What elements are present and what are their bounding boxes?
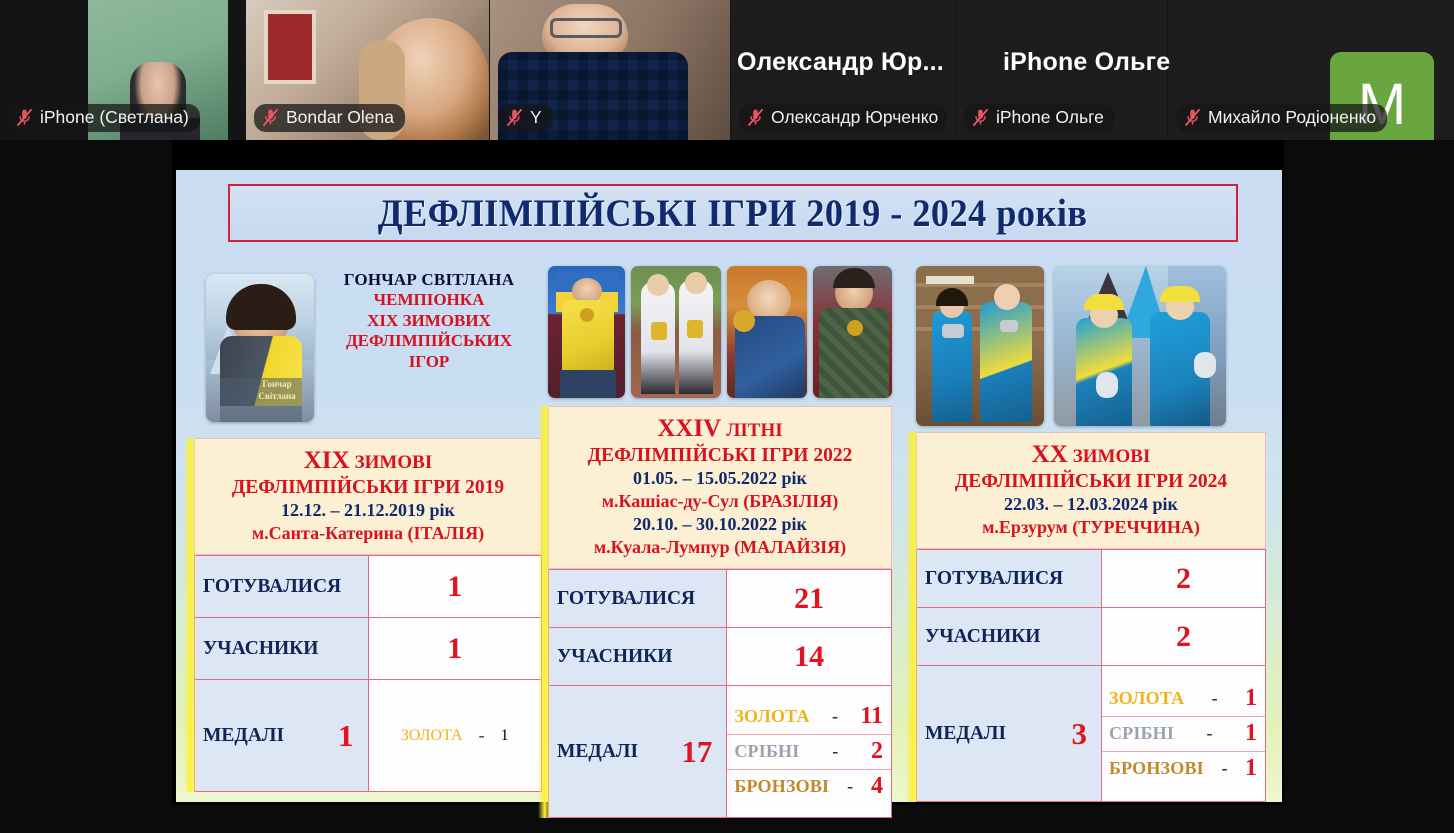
games-roman-numeral: XXIV xyxy=(657,415,721,442)
medals-label: МЕДАЛІ xyxy=(203,725,284,747)
medals-label: МЕДАЛІ xyxy=(925,723,1006,745)
medals-total: 1 xyxy=(338,718,360,754)
medals-breakdown-cell: ЗОЛОТА - 1 СРІБНІ - 1 БР xyxy=(1101,666,1265,802)
games-roman-numeral: XX xyxy=(1032,441,1068,468)
row-value: 1 xyxy=(368,556,542,618)
table-row-medals: МЕДАЛІ 17 ЗОЛОТА - 11 xyxy=(549,686,892,818)
champion-caption: ГОНЧАР СВІТЛАНА ЧЕМПІОНКА XIX ЗИМОВИХ ДЕ… xyxy=(322,270,536,373)
column-xx-winter-2024: XX ЗИМОВІ ДЕФЛІМПІЙСЬКИ ІГРИ 2024 22.03.… xyxy=(916,266,1266,802)
athlete-photo-3 xyxy=(727,266,808,398)
stats-table-xix: ГОТУВАЛИСЯ 1 УЧАСНИКИ 1 МЕДАЛІ 1 xyxy=(194,555,542,792)
page-title: ДЕФЛІМПІЙСЬКІ ІГРИ 2019 - 2024 років xyxy=(378,191,1088,236)
separator-dash: - xyxy=(830,741,840,762)
games-place-1: м.Кашіас-ду-Сул (БРАЗІЛІЯ) xyxy=(553,490,887,513)
champion-line-2: XIX ЗИМОВИХ xyxy=(322,311,536,332)
athlete-photo-2 xyxy=(631,266,721,398)
stats-card-xx: XX ЗИМОВІ ДЕФЛІМПІЙСЬКИ ІГРИ 2024 22.03.… xyxy=(916,432,1266,802)
separator-dash: - xyxy=(830,706,840,727)
medal-breakdown-row-gold: ЗОЛОТА - 1 xyxy=(1102,682,1265,717)
row-value: 2 xyxy=(1101,550,1265,608)
medal-count: 1 xyxy=(501,727,509,745)
champion-block: Гончар Світлана ГОНЧАР СВІТЛАНА ЧЕМПІОНК… xyxy=(194,266,542,426)
participant-name-label: Bondar Olena xyxy=(286,107,394,128)
medals-total: 17 xyxy=(681,734,718,770)
games-roman-numeral: XIX xyxy=(304,447,350,474)
team-photo-2 xyxy=(1054,266,1226,426)
video-tile-1[interactable]: iPhone (Светлана) xyxy=(0,0,245,140)
screen-share-region: ДЕФЛІМПІЙСЬКІ ІГРИ 2019 - 2024 років Гон… xyxy=(172,140,1284,805)
participant-filmstrip: iPhone (Светлана) Bondar Olena xyxy=(0,0,1454,140)
row-value: 21 xyxy=(727,570,892,628)
medals-breakdown-cell: ЗОЛОТА - 11 СРІБНІ - 2 Б xyxy=(727,686,892,818)
medal-count: 1 xyxy=(1245,685,1257,712)
games-name-line: ДЕФЛІМПІЙСЬКИ ІГРИ 2024 xyxy=(921,470,1261,493)
medals-total-cell: МЕДАЛІ 1 xyxy=(195,680,369,792)
games-name-line: ДЕФЛІМПІЙСЬКІ ІГРИ 2022 xyxy=(553,444,887,467)
games-dates-1: 12.12. – 21.12.2019 рік xyxy=(199,499,537,522)
table-row: УЧАСНИКИ 14 xyxy=(549,628,892,686)
participant-name-chip-3: Y xyxy=(498,104,553,132)
medal-breakdown-row-silver: СРІБНІ - 1 xyxy=(1102,717,1265,752)
row-label: УЧАСНИКИ xyxy=(195,618,369,680)
medal-kind-label: БРОНЗОВІ xyxy=(1109,758,1204,779)
photo-strip-winter-2024 xyxy=(916,266,1266,428)
champion-line-3: ДЕФЛІМПІЙСЬКИХ xyxy=(322,331,536,352)
team-photo-1 xyxy=(916,266,1044,426)
photo-strip-summer xyxy=(548,266,892,400)
participant-name-label: iPhone (Светлана) xyxy=(40,107,189,128)
presentation-slide: ДЕФЛІМПІЙСЬКІ ІГРИ 2019 - 2024 років Гон… xyxy=(176,170,1282,802)
medal-kind-label: ЗОЛОТА xyxy=(1109,688,1184,709)
mic-off-icon xyxy=(506,108,523,127)
column-xix-winter-2019: Гончар Світлана ГОНЧАР СВІТЛАНА ЧЕМПІОНК… xyxy=(194,266,542,792)
mic-off-icon xyxy=(972,108,989,127)
medal-count: 1 xyxy=(1245,755,1257,782)
table-row-medals: МЕДАЛІ 3 ЗОЛОТА - 1 xyxy=(917,666,1266,802)
stats-table-xx: ГОТУВАЛИСЯ 2 УЧАСНИКИ 2 МЕДАЛІ 3 xyxy=(916,549,1266,802)
participant-name-chip-5: iPhone Ольге xyxy=(964,104,1115,132)
row-label: ГОТУВАЛИСЯ xyxy=(195,556,369,618)
medal-breakdown-row-silver: СРІБНІ - 2 xyxy=(727,735,891,770)
row-label: УЧАСНИКИ xyxy=(917,608,1102,666)
medal-kind-label: БРОНЗОВІ xyxy=(734,776,829,797)
stats-table-xxiv: ГОТУВАЛИСЯ 21 УЧАСНИКИ 14 МЕДАЛІ 17 xyxy=(548,569,892,818)
separator-dash: - xyxy=(845,776,855,797)
medal-kind-label: СРІБНІ xyxy=(734,741,799,762)
video-tile-6[interactable]: M Михайло Родіоненко xyxy=(1168,0,1454,140)
mic-off-icon xyxy=(16,108,33,127)
medal-breakdown-row: ЗОЛОТА - 1 xyxy=(369,719,542,752)
games-name-line: ДЕФЛІМПІЙСЬКИ ІГРИ 2019 xyxy=(199,476,537,499)
separator-dash: - xyxy=(1219,758,1229,779)
participant-name-chip-1: iPhone (Светлана) xyxy=(8,104,200,132)
games-place-1: м.Санта-Катерина (ІТАЛІЯ) xyxy=(199,522,537,545)
stats-card-xix: XIX ЗИМОВІ ДЕФЛІМПІЙСЬКИ ІГРИ 2019 12.12… xyxy=(194,438,542,792)
participant-name-label: iPhone Ольге xyxy=(996,107,1104,128)
table-row: УЧАСНИКИ 1 xyxy=(195,618,542,680)
table-row: ГОТУВАЛИСЯ 1 xyxy=(195,556,542,618)
medal-breakdown-row-bronze: БРОНЗОВІ - 1 xyxy=(1102,752,1265,786)
champion-name: ГОНЧАР СВІТЛАНА xyxy=(322,270,536,290)
video-tile-3[interactable]: Y xyxy=(490,0,730,140)
medals-total: 3 xyxy=(1071,716,1093,752)
medal-count: 1 xyxy=(1245,720,1257,747)
games-season: ЗИМОВІ xyxy=(355,452,433,473)
slide-title-box: ДЕФЛІМПІЙСЬКІ ІГРИ 2019 - 2024 років xyxy=(228,184,1238,242)
medal-kind-label: ЗОЛОТА xyxy=(734,706,809,727)
games-dates-2: 20.10. – 30.10.2022 рік xyxy=(553,513,887,536)
medal-count: 11 xyxy=(860,703,883,730)
champion-line-1: ЧЕМПІОНКА xyxy=(322,290,536,311)
games-season: ЛІТНІ xyxy=(726,420,782,441)
champion-line-4: ІГОР xyxy=(322,352,536,373)
medal-kind-label: СРІБНІ xyxy=(1109,723,1174,744)
medal-count: 4 xyxy=(871,773,883,800)
stats-header-xix: XIX ЗИМОВІ ДЕФЛІМПІЙСЬКИ ІГРИ 2019 12.12… xyxy=(194,438,542,555)
row-value: 1 xyxy=(368,618,542,680)
separator-dash: - xyxy=(1210,688,1220,709)
row-value: 2 xyxy=(1101,608,1265,666)
participant-name-chip-4: Олександр Юрченко xyxy=(739,104,947,132)
stats-card-xxiv: XXIV ЛІТНІ ДЕФЛІМПІЙСЬКІ ІГРИ 2022 01.05… xyxy=(548,406,892,818)
champion-photo: Гончар Світлана xyxy=(206,274,314,422)
separator-dash: - xyxy=(1205,723,1215,744)
games-place-1: м.Ерзурум (ТУРЕЧЧИНА) xyxy=(921,516,1261,539)
participant-name-label: Михайло Родіоненко xyxy=(1208,107,1376,128)
mic-off-icon xyxy=(1184,108,1201,127)
medals-total-cell: МЕДАЛІ 3 xyxy=(917,666,1102,802)
mic-off-icon xyxy=(262,108,279,127)
column-xxiv-summer-2022: XXIV ЛІТНІ ДЕФЛІМПІЙСЬКІ ІГРИ 2022 01.05… xyxy=(548,266,892,818)
medal-breakdown-row-gold: ЗОЛОТА - 11 xyxy=(727,700,891,735)
table-row: ГОТУВАЛИСЯ 2 xyxy=(917,550,1266,608)
zoom-meeting-window: iPhone (Светлана) Bondar Olena xyxy=(0,0,1454,833)
medals-total-cell: МЕДАЛІ 17 xyxy=(549,686,727,818)
participant-name-label: Y xyxy=(530,107,542,128)
table-row: ГОТУВАЛИСЯ 21 xyxy=(549,570,892,628)
participant-name-chip-2: Bondar Olena xyxy=(254,104,405,132)
row-label: УЧАСНИКИ xyxy=(549,628,727,686)
video-tile-2[interactable]: Bondar Olena xyxy=(246,0,489,140)
games-dates-1: 22.03. – 12.03.2024 рік xyxy=(921,493,1261,516)
games-dates-1: 01.05. – 15.05.2022 рік xyxy=(553,467,887,490)
mic-off-icon xyxy=(747,108,764,127)
medal-breakdown-row-bronze: БРОНЗОВІ - 4 xyxy=(727,770,891,804)
medals-label: МЕДАЛІ xyxy=(557,741,638,763)
medals-breakdown-cell: ЗОЛОТА - 1 xyxy=(368,680,542,792)
athlete-photo-4 xyxy=(813,266,892,398)
stats-header-xxiv: XXIV ЛІТНІ ДЕФЛІМПІЙСЬКІ ІГРИ 2022 01.05… xyxy=(548,406,892,569)
overlay-name-2: iPhone Ольге xyxy=(1003,48,1170,77)
row-label: ГОТУВАЛИСЯ xyxy=(549,570,727,628)
athlete-photo-1 xyxy=(548,266,625,398)
games-place-2: м.Куала-Лумпур (МАЛАЙЗІЯ) xyxy=(553,536,887,559)
table-row-medals: МЕДАЛІ 1 ЗОЛОТА - 1 xyxy=(195,680,542,792)
games-season: ЗИМОВІ xyxy=(1073,446,1151,467)
row-value: 14 xyxy=(727,628,892,686)
medal-kind-label: ЗОЛОТА xyxy=(401,727,463,745)
participant-name-chip-6: Михайло Родіоненко xyxy=(1176,104,1387,132)
stats-header-xx: XX ЗИМОВІ ДЕФЛІМПІЙСЬКИ ІГРИ 2024 22.03.… xyxy=(916,432,1266,549)
participant-name-label: Олександр Юрченко xyxy=(771,107,938,128)
row-label: ГОТУВАЛИСЯ xyxy=(917,550,1102,608)
champion-photo-caption: Гончар Світлана xyxy=(246,378,308,402)
medal-count: 2 xyxy=(871,738,883,765)
separator-dash: - xyxy=(477,725,487,746)
overlay-name-1: Олександр Юр... xyxy=(737,48,944,77)
table-row: УЧАСНИКИ 2 xyxy=(917,608,1266,666)
